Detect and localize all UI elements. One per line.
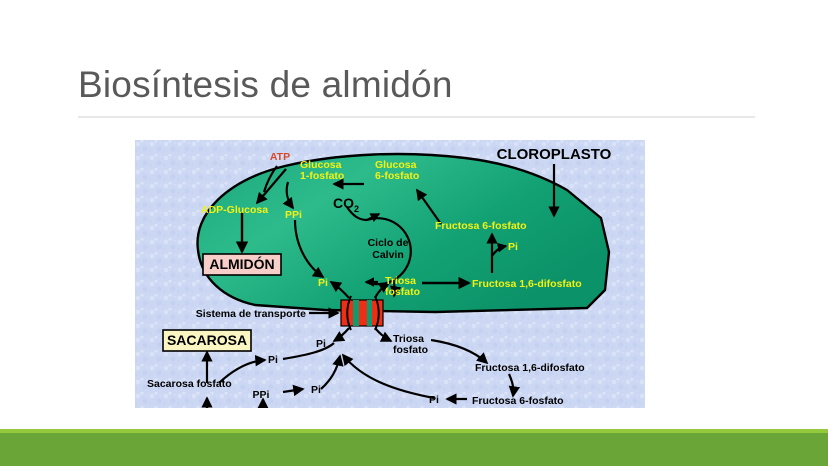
label-ppi-stroma: PPi bbox=[285, 209, 302, 221]
diagram-svg: ALMIDÓN SACAROSA ATP Glucosa 1-fosfato G… bbox=[135, 140, 645, 408]
label-glucosa-1-fosfato-line2: 1-fosfato bbox=[300, 170, 344, 182]
label-fructosa-16-difosfato-stroma: Fructosa 1,6-difosfato bbox=[472, 278, 582, 290]
label-sacarosa-fosfato: Sacarosa fosfato bbox=[147, 378, 232, 390]
label-co2-text: CO bbox=[333, 195, 354, 211]
label-chloroplast: CLOROPLASTO bbox=[497, 146, 612, 163]
label-ciclo-de-calvin-line1: Ciclo de bbox=[368, 237, 409, 249]
label-pi-cytosol-mid: Pi bbox=[311, 384, 321, 396]
label-pi-cytosol-top: Pi bbox=[316, 338, 326, 350]
almidon-box: ALMIDÓN bbox=[203, 254, 281, 275]
label-adp-glucosa: ADP-Glucosa bbox=[201, 204, 268, 216]
label-ciclo-de-calvin-line2: Calvin bbox=[372, 249, 404, 261]
sacarosa-box: SACAROSA bbox=[163, 330, 251, 351]
label-fructosa-6-fosfato-stroma: Fructosa 6-fosfato bbox=[435, 220, 527, 232]
slide-canvas: Biosíntesis de almidón bbox=[0, 0, 828, 466]
label-triosa-fosfato-cytosol-line2: fosfato bbox=[393, 344, 428, 356]
label-ppi-cytosol: PPi bbox=[253, 389, 270, 401]
transport-system-icon bbox=[341, 296, 383, 330]
label-transport-system: Sistema de transporte bbox=[196, 308, 306, 320]
label-fructosa-6-fosfato-cytosol: Fructosa 6-fosfato bbox=[472, 395, 564, 407]
label-pi-cytosol-left: Pi bbox=[268, 354, 278, 366]
almidon-box-label: ALMIDÓN bbox=[209, 255, 274, 272]
label-triosa-fosfato-stroma-line2: fosfato bbox=[385, 286, 420, 298]
sacarosa-box-label: SACAROSA bbox=[167, 332, 247, 348]
label-glucosa-6-fosfato-line2: 6-fosfato bbox=[375, 170, 419, 182]
title-divider bbox=[78, 116, 755, 118]
label-atp: ATP bbox=[270, 151, 290, 163]
label-pi-stroma-left: Pi bbox=[318, 277, 328, 289]
label-co2-subscript: 2 bbox=[354, 204, 359, 214]
accent-bar-dark bbox=[0, 433, 828, 466]
label-fructosa-16-difosfato-cytosol: Fructosa 1,6-difosfato bbox=[475, 362, 585, 374]
label-pi-stroma-right: Pi bbox=[508, 241, 518, 253]
starch-biosynthesis-diagram: ALMIDÓN SACAROSA ATP Glucosa 1-fosfato G… bbox=[135, 140, 645, 408]
label-pi-cytosol-right: Pi bbox=[429, 394, 439, 406]
page-title: Biosíntesis de almidón bbox=[78, 62, 453, 108]
